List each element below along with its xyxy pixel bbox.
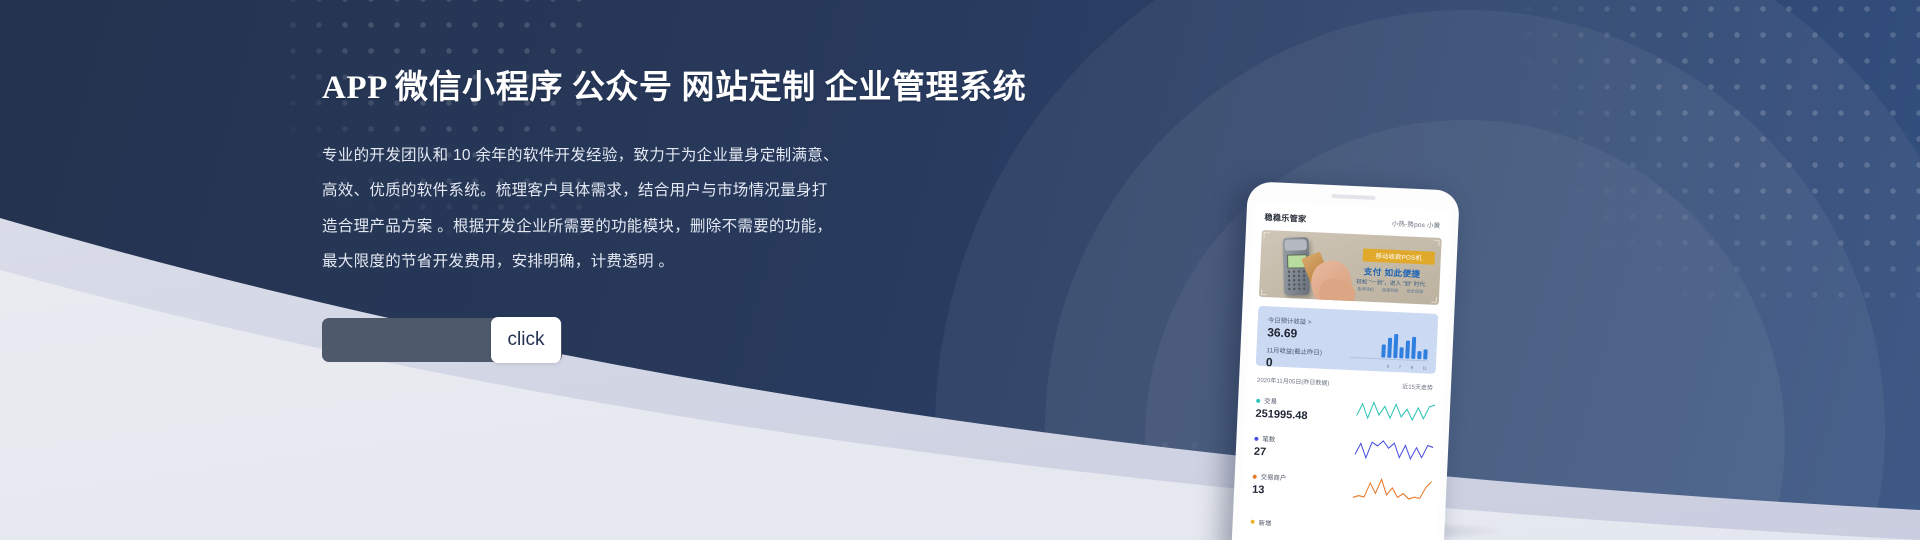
status-dot-icon <box>1256 398 1260 402</box>
banner-corner-icon <box>1431 297 1437 303</box>
hero-copy: APP 微信小程序 公众号 网站定制 企业管理系统 专业的开发团队和 10 余年… <box>322 60 1082 288</box>
sparkline-chart <box>1354 434 1433 468</box>
banner-tag: 免押领机 <box>1357 286 1374 293</box>
banner-tag: 极速到账 <box>1382 287 1399 294</box>
stat-label: 新增 <box>1258 518 1271 528</box>
stat-value: 251995.48 <box>1255 408 1351 424</box>
paragraph-line: 专业的开发团队和 10 余年的软件开发经验，致力于为企业量身定制满意、 <box>322 146 1082 165</box>
promo-banner[interactable]: 移动收款POS机 支付 如此便捷 轻松 "一划"，进入 "划" 时代 免押领机 … <box>1259 230 1442 305</box>
banner-corner-icon <box>1264 232 1270 238</box>
banner-tag: 安全保障 <box>1406 288 1423 295</box>
stat-label: 交易 <box>1264 396 1277 406</box>
sparkline-chart <box>1356 396 1435 430</box>
banner-corner-icon <box>1261 289 1267 295</box>
pos-keypad <box>1286 269 1307 291</box>
stat-label: 笔数 <box>1262 434 1275 444</box>
earnings-card[interactable]: 今日预计收益 > 36.69 11月收益(截止昨日) 0 57911 <box>1256 306 1439 374</box>
banner-badge: 移动收款POS机 <box>1363 248 1436 264</box>
trend-date: 2020年11月05日(昨日数据) <box>1257 375 1330 387</box>
hero-paragraph: 专业的开发团队和 10 余年的软件开发经验，致力于为企业量身定制满意、 高效、优… <box>322 146 1082 272</box>
monthly-bar-chart <box>1381 331 1428 359</box>
banner-corner-icon <box>1433 240 1439 246</box>
status-dot-icon <box>1251 520 1255 524</box>
stat-label: 交易商户 <box>1261 472 1287 482</box>
trend-range: 近15天走势 <box>1402 381 1433 391</box>
stat-value: 27 <box>1254 446 1350 462</box>
app-brand: 稳稳乐管家 <box>1264 211 1306 225</box>
status-dot-icon <box>1253 474 1257 478</box>
click-button[interactable]: click <box>491 317 561 363</box>
paragraph-line: 造合理产品方案 。根据开发企业所需要的功能模块，删除不需要的功能， <box>322 217 1082 236</box>
paragraph-line: 最大限度的节省开发费用，安排明确，计费透明 。 <box>322 252 1082 271</box>
status-dot-icon <box>1254 436 1258 440</box>
page-title: APP 微信小程序 公众号 网站定制 企业管理系统 <box>322 60 1082 108</box>
sparkline-chart <box>1353 472 1432 506</box>
phone-screen: 稳稳乐管家 小热-势pos 小黄 移动收款POS机 支付 如此便捷 轻松 "一划… <box>1237 201 1452 540</box>
hero-banner: APP 微信小程序 公众号 网站定制 企业管理系统 专业的开发团队和 10 余年… <box>0 0 1920 540</box>
phone-mockup: 稳稳乐管家 小热-势pos 小黄 移动收款POS机 支付 如此便捷 轻松 "一划… <box>1230 181 1460 540</box>
paragraph-line: 高效、优质的软件系统。梳理客户具体需求，结合用户与市场情况量身打 <box>322 181 1082 200</box>
app-account: 小热-势pos 小黄 <box>1392 218 1441 230</box>
cta-group: click <box>322 318 572 362</box>
stat-value: 13 <box>1252 484 1348 500</box>
pos-printer <box>1285 239 1307 251</box>
